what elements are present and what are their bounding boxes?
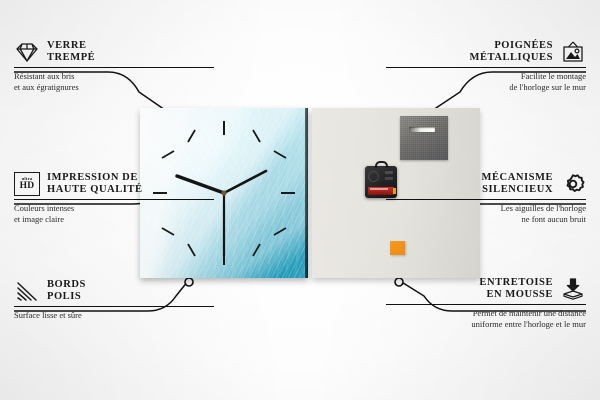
feature-title: POIGNÉES MÉTALLIQUES bbox=[470, 40, 553, 64]
diamond-icon bbox=[14, 40, 40, 64]
hanging-picture-icon bbox=[560, 40, 586, 64]
feature-header: POIGNÉES MÉTALLIQUES bbox=[386, 40, 586, 64]
second-hand bbox=[224, 171, 266, 193]
tick-8 bbox=[162, 228, 174, 235]
feature-divider bbox=[14, 67, 214, 68]
feature-divider bbox=[386, 199, 586, 200]
tick-10 bbox=[162, 151, 174, 158]
feature-title: MÉCANISME SILENCIEUX bbox=[482, 172, 553, 196]
tick-5 bbox=[253, 244, 260, 256]
feature-header: BORDS POLIS bbox=[14, 279, 214, 303]
feature-description: Résistant aux bris et aux égratignures bbox=[14, 71, 214, 92]
feature-description: Permet de maintenir une distance uniform… bbox=[386, 308, 586, 329]
tick-1 bbox=[253, 130, 260, 142]
foam-spacer bbox=[390, 241, 405, 255]
gear-icon bbox=[560, 172, 586, 196]
feature-title: VERRE TREMPÉ bbox=[47, 40, 95, 64]
feature-description: Les aiguilles de l'horloge ne font aucun… bbox=[386, 203, 586, 224]
metal-bracket bbox=[400, 116, 448, 160]
feature-header: ultra HD IMPRESSION DE HAUTE QUALITÉ bbox=[14, 172, 214, 196]
feature-divider bbox=[386, 304, 586, 305]
ultra-hd-badge-icon: ultra HD bbox=[14, 172, 40, 196]
feature-bords-polis: BORDS POLIS Surface lisse et sûre bbox=[14, 279, 214, 321]
feature-description: Couleurs intenses et image claire bbox=[14, 203, 214, 224]
feature-description: Surface lisse et sûre bbox=[14, 310, 214, 321]
feature-poignees-metalliques: POIGNÉES MÉTALLIQUES Facilite le montage… bbox=[386, 40, 586, 92]
tick-2 bbox=[274, 151, 286, 158]
feature-description: Facilite le montage de l'horloge sur le … bbox=[386, 71, 586, 92]
feature-header: VERRE TREMPÉ bbox=[14, 40, 214, 64]
feature-entretoise-en-mousse: ENTRETOISE EN MOUSSE Permet de maintenir… bbox=[386, 277, 586, 329]
feature-verre-trempe: VERRE TREMPÉ Résistant aux bris et aux é… bbox=[14, 40, 214, 92]
feature-header: ENTRETOISE EN MOUSSE bbox=[386, 277, 586, 301]
feature-header: MÉCANISME SILENCIEUX bbox=[386, 172, 586, 196]
feature-divider bbox=[14, 306, 214, 307]
feature-impression-haute-qualite: ultra HD IMPRESSION DE HAUTE QUALITÉ Cou… bbox=[14, 172, 214, 224]
ultra-hd-large-text: HD bbox=[20, 182, 35, 192]
feature-title: ENTRETOISE EN MOUSSE bbox=[479, 277, 553, 301]
bracket-slot bbox=[409, 127, 435, 132]
tick-11 bbox=[188, 130, 195, 142]
mechanism-dial bbox=[368, 171, 379, 182]
mechanism-hanger bbox=[375, 161, 388, 168]
infographic-poster: VERRE TREMPÉ Résistant aux bris et aux é… bbox=[0, 0, 600, 400]
diagonal-lines-icon bbox=[14, 279, 40, 303]
feature-mecanisme-silencieux: MÉCANISME SILENCIEUX Les aiguilles de l'… bbox=[386, 172, 586, 224]
glass-edge bbox=[305, 108, 308, 278]
press-down-foam-icon bbox=[560, 277, 586, 301]
tick-4 bbox=[274, 228, 286, 235]
feature-title: IMPRESSION DE HAUTE QUALITÉ bbox=[47, 172, 143, 196]
feature-divider bbox=[386, 67, 586, 68]
hands-hub bbox=[221, 190, 226, 195]
tick-7 bbox=[188, 244, 195, 256]
feature-title: BORDS POLIS bbox=[47, 279, 86, 303]
feature-divider bbox=[14, 199, 214, 200]
